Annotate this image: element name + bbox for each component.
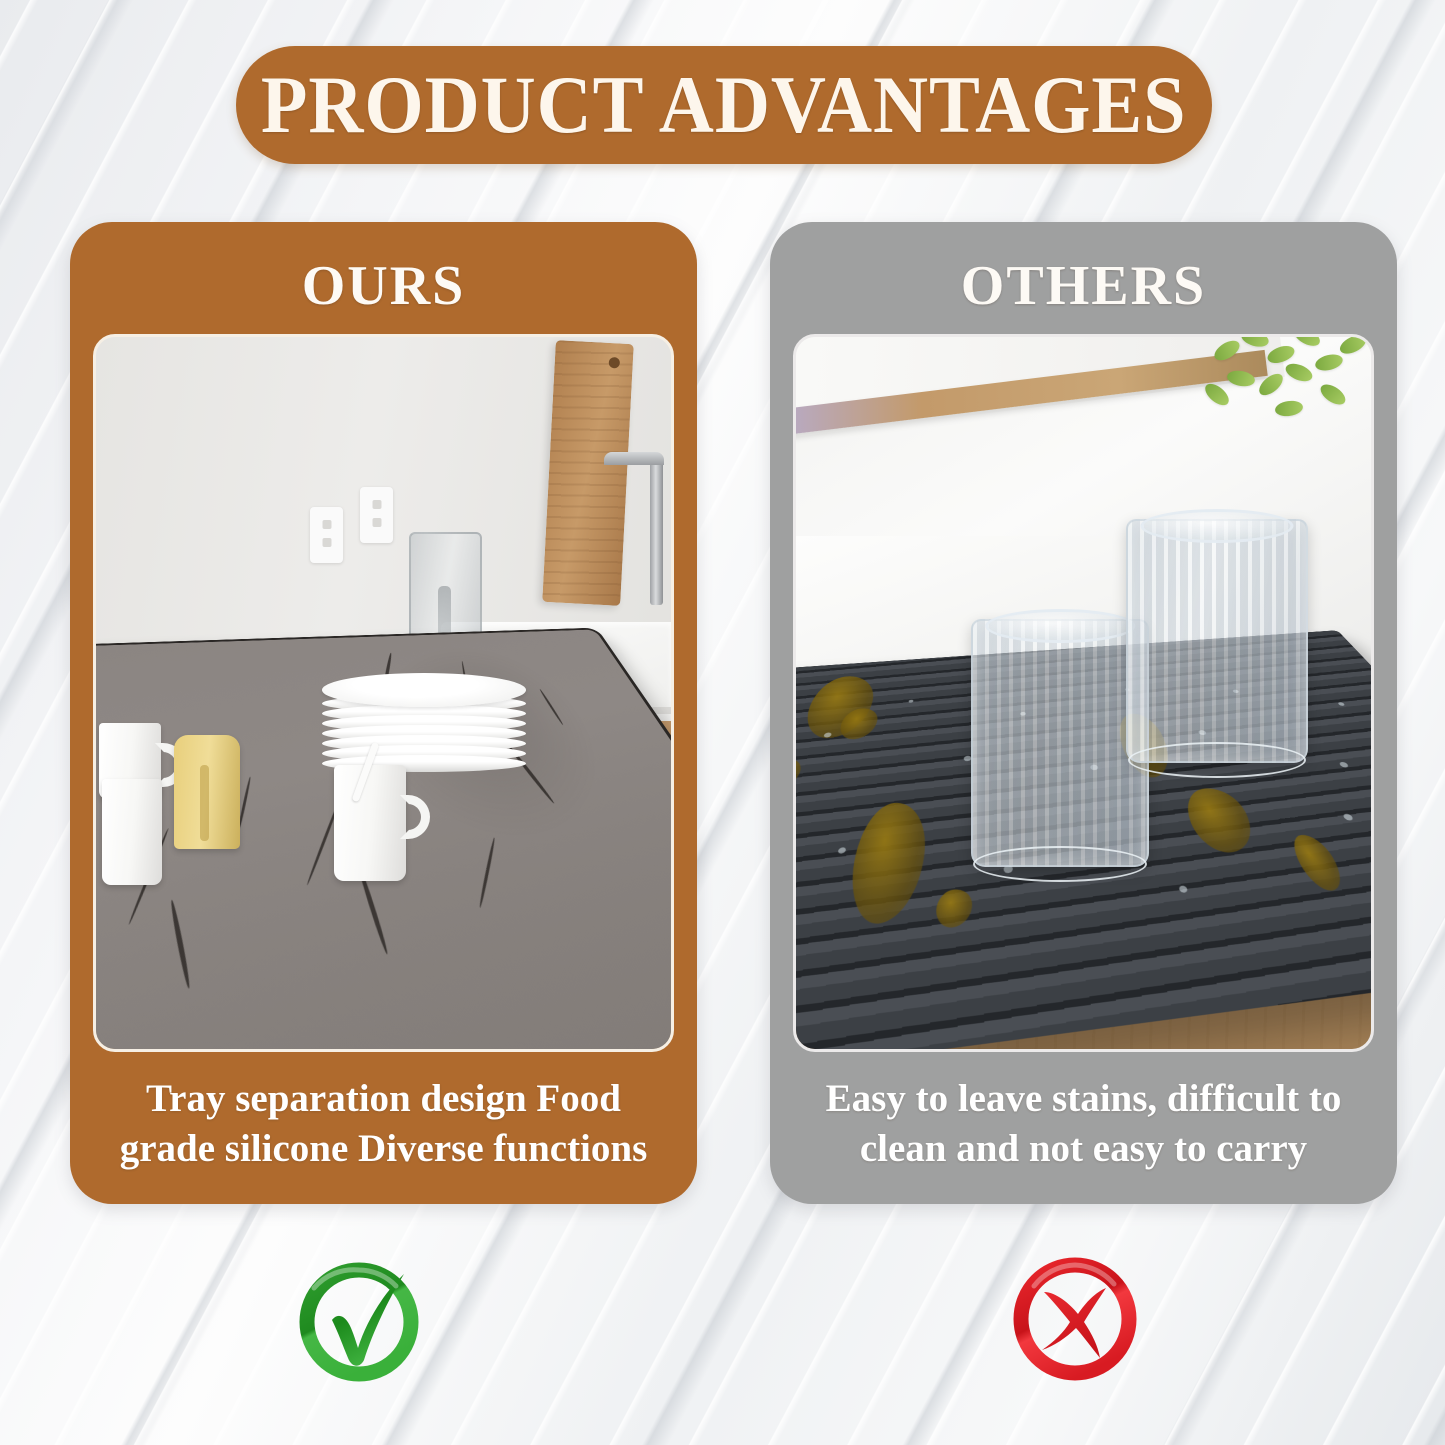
ceramic-mug	[102, 779, 162, 885]
panel-heading-others: OTHERS	[770, 258, 1397, 314]
upturned-drinking-glass	[971, 619, 1149, 867]
comparison-panel-others: OTHERS	[770, 222, 1397, 1204]
stacked-plates	[322, 673, 526, 779]
houseplant	[1189, 334, 1374, 505]
comparison-panel-ours: OURS	[70, 222, 697, 1204]
page-title: PRODUCT ADVANTAGES	[261, 64, 1187, 146]
product-photo-ours	[93, 334, 674, 1052]
wall-outlet-icon	[310, 507, 343, 563]
upturned-drinking-glass	[1126, 519, 1308, 763]
wall-switch-icon	[360, 487, 393, 543]
cross-circle-icon	[1004, 1248, 1146, 1390]
yellow-cup	[174, 735, 240, 849]
panel-heading-ours: OURS	[70, 258, 697, 314]
check-circle-icon	[288, 1248, 430, 1390]
panel-caption-others: Easy to leave stains, difficult to clean…	[794, 1074, 1373, 1174]
page-title-banner: PRODUCT ADVANTAGES	[236, 46, 1212, 164]
panel-caption-ours: Tray separation design Food grade silico…	[94, 1074, 673, 1174]
faucet	[650, 455, 663, 605]
cutting-board	[542, 340, 634, 606]
infographic-canvas: PRODUCT ADVANTAGES OURS	[0, 0, 1445, 1445]
white-mug	[334, 765, 406, 881]
product-photo-others	[793, 334, 1374, 1052]
